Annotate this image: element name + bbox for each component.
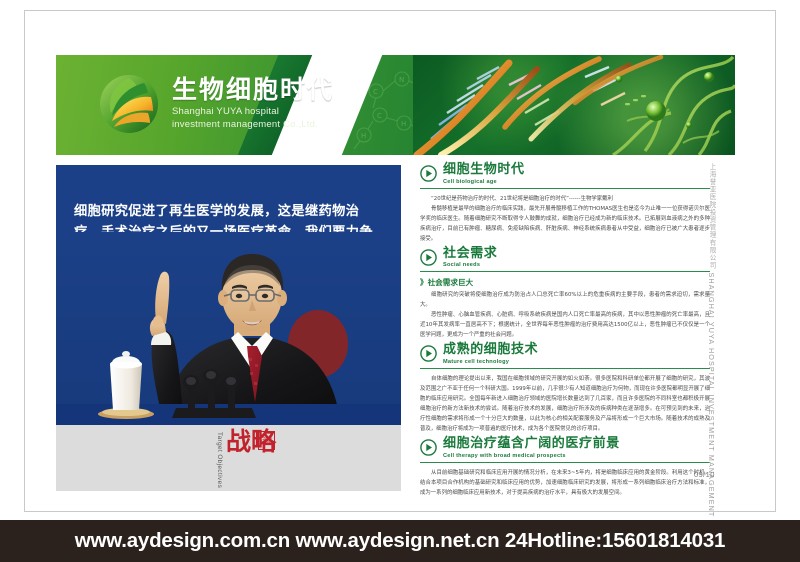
section-cell-biological-age: 细胞生物时代 Cell biological age “20世纪是药物治疗的时代… bbox=[420, 163, 710, 244]
section-rule bbox=[420, 271, 710, 272]
section-subheading: 》社会需求巨大 bbox=[420, 277, 710, 288]
section-title-en: Cell therapy with broad medical prospect… bbox=[443, 453, 710, 459]
svg-text:H: H bbox=[401, 120, 406, 128]
section-title-en: Mature cell technology bbox=[443, 359, 710, 365]
svg-text:C: C bbox=[373, 88, 378, 96]
play-circle-icon bbox=[420, 345, 437, 362]
vertical-company-name-cn: 上海誉亚医院投资管理有限公司 bbox=[708, 163, 715, 269]
red-seal-stamp-icon: 决策 bbox=[258, 431, 275, 450]
section-title-cn: 成熟的细胞技术 bbox=[443, 343, 710, 358]
logo-english-name: Shanghai YUYA hospital investment manage… bbox=[172, 106, 334, 132]
premier-press-conference-photo bbox=[56, 232, 401, 425]
section-paragraph: 从目前细胞基础研究和临床应用开展的情况分析，在未来3~5年内，将是细胞临床应用的… bbox=[420, 468, 710, 498]
section-rule bbox=[420, 368, 710, 369]
section-paragraph: “20世纪是药物治疗的时代、21世纪将是细胞治疗的时代”------生物学家戴利 bbox=[420, 194, 710, 204]
company-logo: 生物细胞时代 Shanghai YUYA hospital investment… bbox=[98, 73, 334, 135]
strategy-english: Target Objectives bbox=[216, 432, 223, 488]
section-social-needs: 社会需求 Social needs 》社会需求巨大 细胞研究的突破将使细胞治疗成… bbox=[420, 247, 710, 341]
logo-chinese-name: 生物细胞时代 bbox=[172, 77, 334, 103]
header-banner: CNC NGH CH bbox=[56, 55, 735, 155]
content-sections: 细胞生物时代 Cell biological age “20世纪是药物治疗的时代… bbox=[420, 163, 710, 501]
strategy-label-group: Target Objectives 战略 决策 bbox=[198, 428, 318, 490]
section-title-cn: 社会需求 bbox=[443, 247, 710, 262]
page-number: 09/10 bbox=[694, 470, 715, 479]
section-paragraph: 骨髓移植是最早的细胞治疗的临床实践，最先开展骨髓移植工作的THOMAS医生也是迄… bbox=[420, 204, 710, 244]
section-mature-cell-technology: 成熟的细胞技术 Mature cell technology 自体细胞的理论提出… bbox=[420, 343, 710, 434]
leaf-logo-icon bbox=[98, 73, 160, 135]
section-rule bbox=[420, 462, 710, 463]
vertical-company-name: 上海誉亚医院投资管理有限公司 SHANGHAI YUYA HOSPITAL IN… bbox=[706, 163, 716, 463]
section-title-cn: 细胞治疗蕴含广阔的医疗前景 bbox=[443, 437, 710, 452]
section-title-cn: 细胞生物时代 bbox=[443, 163, 710, 178]
section-paragraph: 恶性肿瘤、心脑血管疾病、心脏病、呼吸系统疾病是国内人口死亡率最高的疾病，其中以恶… bbox=[420, 310, 710, 340]
banner-contact-text: www.aydesign.com.cn www.aydesign.net.cn … bbox=[75, 529, 726, 553]
section-paragraph: 细胞研究的突破将使细胞治疗成为防治占人口总死亡率60%以上的危重疾病的主要手段，… bbox=[420, 290, 710, 310]
play-circle-icon bbox=[420, 165, 437, 182]
bottom-banner: www.aydesign.com.cn www.aydesign.net.cn … bbox=[0, 520, 800, 562]
svg-text:H: H bbox=[361, 132, 366, 140]
dna-helix-graphic bbox=[413, 55, 735, 155]
section-paragraph: 自体细胞的理论提出以来，我国在细胞领域的研究开展的如火如荼。很多医院和科研单位都… bbox=[420, 374, 710, 434]
play-circle-icon bbox=[420, 439, 437, 456]
svg-text:N: N bbox=[399, 76, 404, 84]
section-cell-therapy-prospects: 细胞治疗蕴含广阔的医疗前景 Cell therapy with broad me… bbox=[420, 437, 710, 498]
section-title-en: Cell biological age bbox=[443, 179, 710, 185]
section-rule bbox=[420, 188, 710, 189]
section-title-en: Social needs bbox=[443, 262, 710, 268]
play-circle-icon bbox=[420, 249, 437, 266]
svg-text:C: C bbox=[377, 112, 382, 120]
vertical-company-name-en: SHANGHAI YUYA HOSPITAL INVESTMENT MANAGE… bbox=[707, 273, 716, 559]
